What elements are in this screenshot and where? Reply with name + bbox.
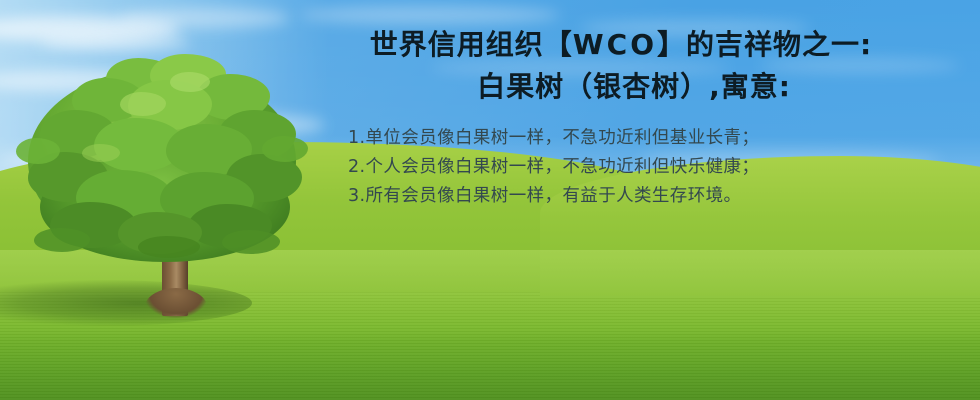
leaf-clump [34,228,90,252]
leaf-clump [138,236,200,258]
wco-mascot-banner: 世界信用组织【WCO】的吉祥物之一: 白果树（银杏树）,寓意: 1.单位会员像白… [0,0,980,400]
headline-line-1: 世界信用组织【WCO】的吉祥物之一: [276,24,966,66]
headline-prefix: 世界信用组织 [370,28,544,61]
ginkgo-tree-illustration [10,52,310,312]
list-item: 2.个人会员像白果树一样，不急功近利但快乐健康； [306,153,966,182]
list-item: 1.单位会员像白果树一样，不急功近利但基业长青； [306,124,966,153]
bracket-open: 【 [544,28,573,61]
meadow-shade [0,330,980,400]
leaf-highlight [120,92,166,116]
mascot-meaning-list: 1.单位会员像白果树一样，不急功近利但基业长青； 2.个人会员像白果树一样，不急… [276,124,966,211]
leaf-clump [16,138,60,164]
bracket-close: 】 [657,28,686,61]
headline-acronym: WCO [573,28,657,61]
headline-suffix: 的吉祥物之一: [686,28,872,61]
leaf-highlight [82,144,120,162]
list-item: 3.所有会员像白果树一样，有益于人类生存环境。 [306,182,966,211]
banner-text-block: 世界信用组织【WCO】的吉祥物之一: 白果树（银杏树）,寓意: 1.单位会员像白… [276,24,966,211]
leaf-clump [222,230,280,254]
leaf-highlight [170,72,210,92]
headline-line-2: 白果树（银杏树）,寓意: [276,66,966,108]
